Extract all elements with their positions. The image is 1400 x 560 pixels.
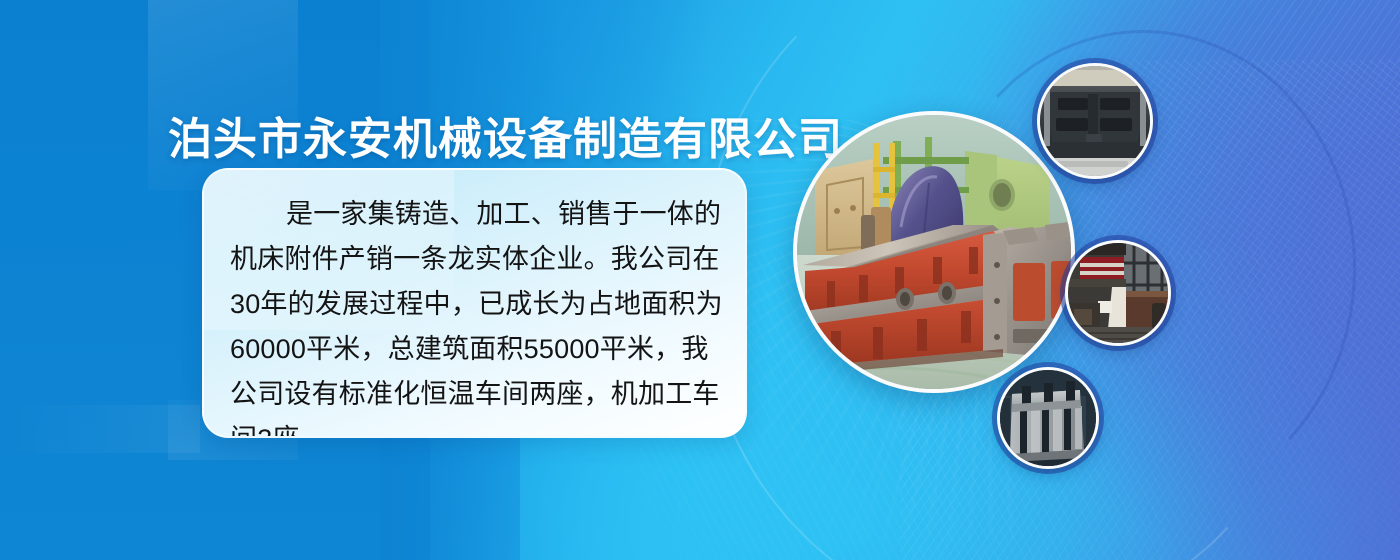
cast-iron-blocks-illustration [1000,370,1096,466]
cast-iron-blocks-photo [997,367,1099,469]
company-description-text: 是一家集铸造、加工、销售于一体的机床附件产销一条龙实体企业。我公司在30年的发展… [230,192,723,438]
machine-bed-casting-photo [793,111,1075,393]
company-intro-banner: 泊头市永安机械设备制造有限公司 是一家集铸造、加工、销售于一体的机床附件产销一条… [0,0,1400,560]
dark-machine-base-photo [1037,63,1153,179]
company-description-card: 是一家集铸造、加工、销售于一体的机床附件产销一条龙实体企业。我公司在30年的发展… [202,168,747,438]
page-title: 泊头市永安机械设备制造有限公司 [168,103,843,167]
machine-bed-casting-illustration [797,115,1071,389]
dark-machine-base-illustration [1040,66,1150,176]
workshop-interior-photo [1065,240,1171,346]
workshop-interior-illustration [1068,243,1168,343]
